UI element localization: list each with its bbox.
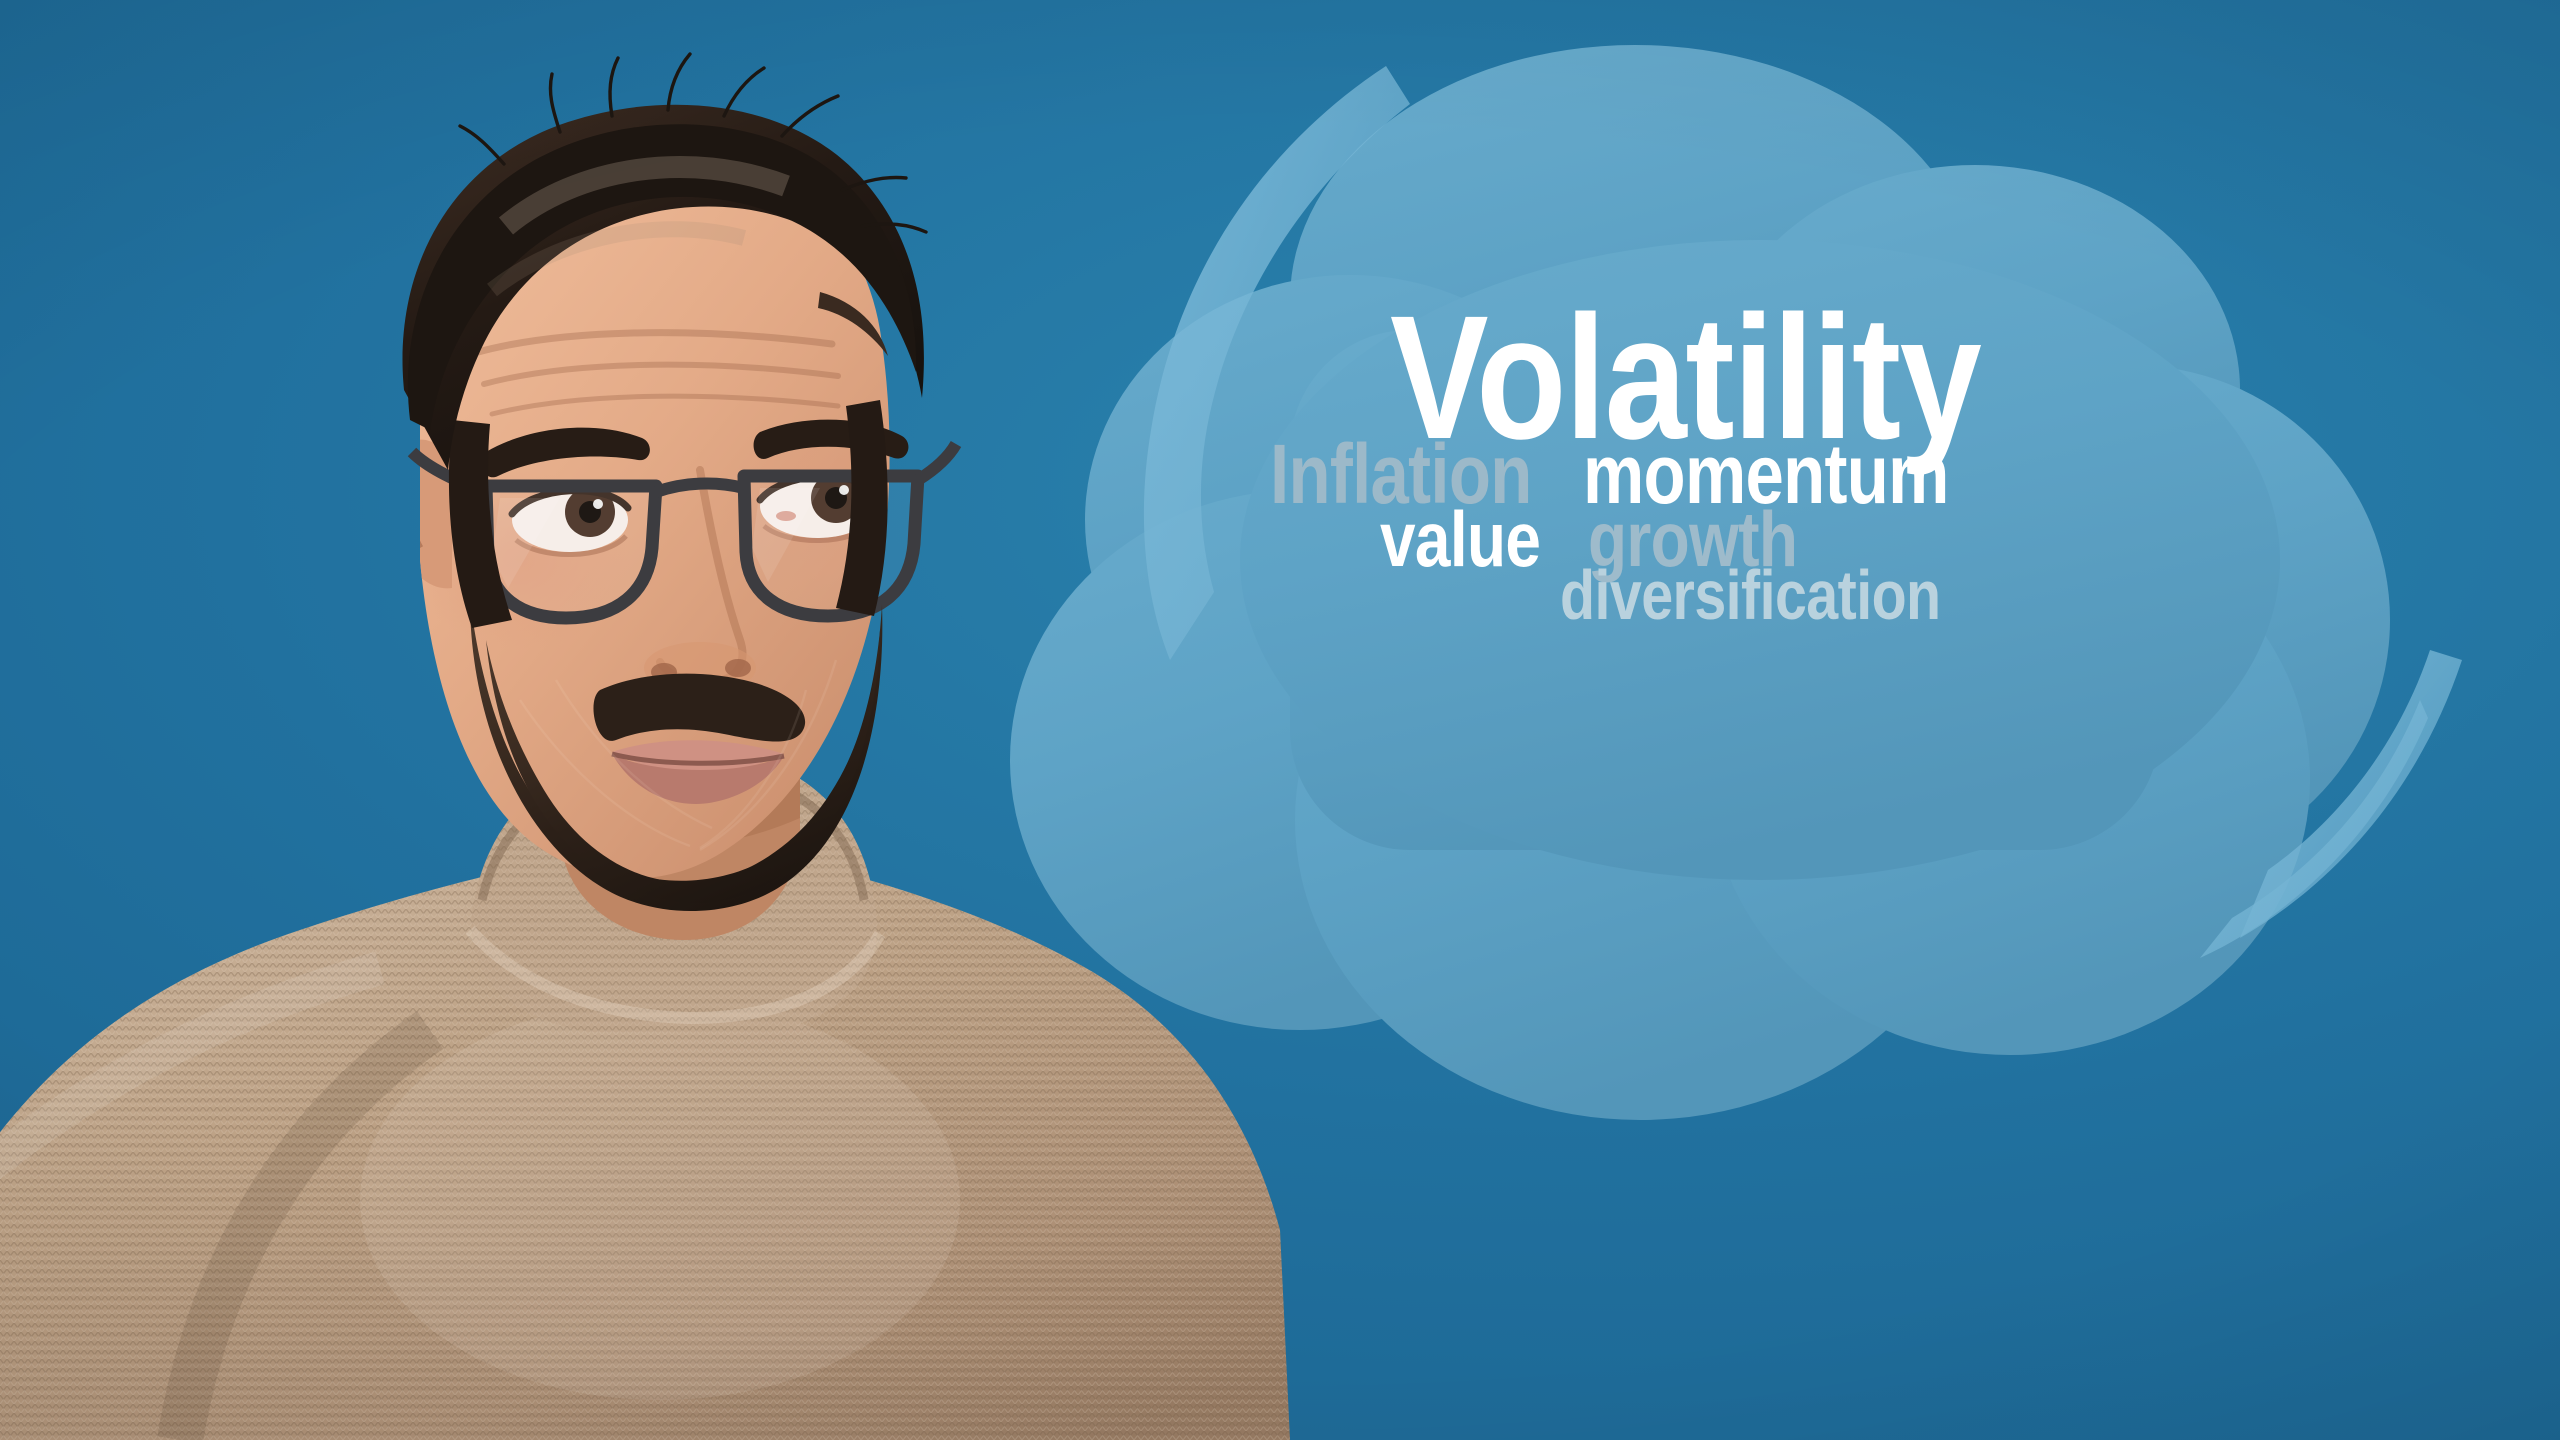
word-row-4: diversification <box>1560 560 2230 630</box>
word-diversification: diversification <box>1560 560 1941 630</box>
word-cloud: Volatility Inflationmomentum valuegrowth… <box>1270 290 2230 770</box>
screenshot-canvas: Volatility Inflationmomentum valuegrowth… <box>0 0 2560 1440</box>
word-value: value <box>1380 500 1540 578</box>
subject-portrait <box>0 0 1300 1440</box>
face <box>389 54 956 911</box>
